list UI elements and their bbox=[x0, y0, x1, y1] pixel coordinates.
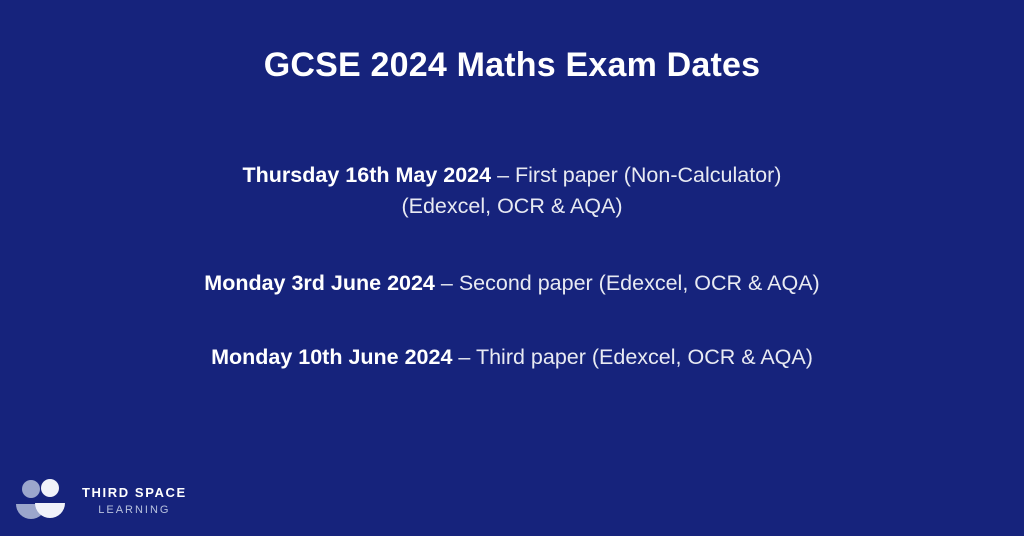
brand-logo: THIRD SPACE LEARNING bbox=[12, 474, 187, 528]
separator-dash: – bbox=[435, 271, 459, 295]
exam-date: Thursday 16th May 2024 bbox=[243, 163, 492, 187]
two-people-icon bbox=[12, 477, 74, 525]
exam-description: Third paper (Edexcel, OCR & AQA) bbox=[476, 345, 813, 369]
brand-name-primary: THIRD SPACE bbox=[82, 486, 187, 500]
exam-description: First paper (Non-Calculator) bbox=[515, 163, 781, 187]
exam-entry-main-line: Monday 10th June 2024 – Third paper (Ede… bbox=[0, 342, 1024, 373]
list-item: Thursday 16th May 2024 – First paper (No… bbox=[0, 160, 1024, 222]
exam-dates-list: Thursday 16th May 2024 – First paper (No… bbox=[0, 160, 1024, 373]
list-item: Monday 3rd June 2024 – Second paper (Ede… bbox=[0, 268, 1024, 299]
exam-boards: (Edexcel, OCR & AQA) bbox=[0, 191, 1024, 222]
separator-dash: – bbox=[491, 163, 515, 187]
exam-entry-main-line: Thursday 16th May 2024 – First paper (No… bbox=[0, 160, 1024, 191]
brand-name-secondary: LEARNING bbox=[82, 504, 187, 516]
brand-logo-text: THIRD SPACE LEARNING bbox=[82, 486, 187, 515]
exam-description: Second paper (Edexcel, OCR & AQA) bbox=[459, 271, 820, 295]
exam-date: Monday 3rd June 2024 bbox=[204, 271, 435, 295]
separator-dash: – bbox=[452, 345, 476, 369]
exam-date: Monday 10th June 2024 bbox=[211, 345, 452, 369]
exam-entry-main-line: Monday 3rd June 2024 – Second paper (Ede… bbox=[0, 268, 1024, 299]
list-item: Monday 10th June 2024 – Third paper (Ede… bbox=[0, 342, 1024, 373]
page-title: GCSE 2024 Maths Exam Dates bbox=[0, 45, 1024, 86]
slide-canvas: GCSE 2024 Maths Exam Dates Thursday 16th… bbox=[0, 0, 1024, 536]
